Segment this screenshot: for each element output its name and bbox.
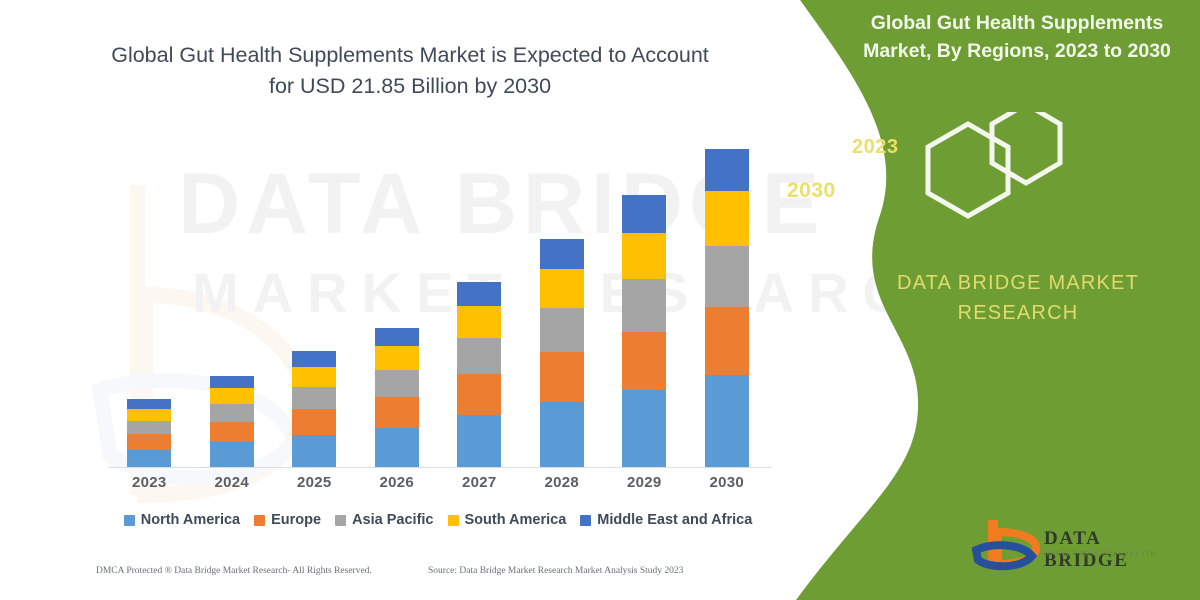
- logo-wordmark: DATA BRIDGE: [1044, 528, 1182, 572]
- bar-segment: [210, 404, 254, 421]
- bar-segment: [457, 374, 501, 415]
- page-title-line2: for USD 21.85 Billion by 2030: [269, 74, 551, 98]
- x-axis-tick-label: 2026: [356, 474, 438, 491]
- legend-item[interactable]: South America: [448, 512, 567, 528]
- bar-segment: [457, 282, 501, 306]
- brand-name-line1: DATA BRIDGE MARKET: [897, 272, 1139, 294]
- hexagon-2030-shape: [928, 124, 1008, 216]
- bar-segment: [210, 442, 254, 467]
- bar-segment: [375, 346, 419, 370]
- hexagon-badges: [880, 112, 1180, 242]
- bar-segment: [210, 376, 254, 388]
- stacked-bar-chart: [108, 140, 768, 467]
- logo-subtitle: MARKET RESEARCH PVT LTD: [1045, 552, 1156, 558]
- bar-segment: [540, 269, 584, 308]
- green-sidebar: Global Gut Health Supplements Market, By…: [730, 0, 1200, 600]
- x-axis-tick-label: 2028: [521, 474, 603, 491]
- stacked-bar: [457, 282, 501, 467]
- legend-swatch-icon: [580, 515, 591, 526]
- x-axis-tick-label: 2024: [191, 474, 273, 491]
- bar-segment: [127, 434, 171, 449]
- bar-segment: [127, 450, 171, 467]
- legend-label: South America: [465, 512, 567, 528]
- sidebar-title: Global Gut Health Supplements Market, By…: [852, 10, 1182, 65]
- bar-segment: [375, 397, 419, 428]
- bar-segment: [540, 352, 584, 401]
- brand-name: DATA BRIDGE MARKET RESEARCH: [858, 268, 1178, 328]
- bar-segment: [457, 415, 501, 467]
- legend-swatch-icon: [254, 515, 265, 526]
- legend-swatch-icon: [448, 515, 459, 526]
- bar-segment: [457, 306, 501, 338]
- x-axis-tick-label: 2025: [273, 474, 355, 491]
- legend-label: Europe: [271, 512, 321, 528]
- bar-segment: [457, 338, 501, 374]
- bar-segment: [292, 435, 336, 467]
- bar-segment: [210, 388, 254, 404]
- bar-segment: [622, 233, 666, 280]
- bar-segment: [292, 351, 336, 367]
- footer: DMCA Protected ® Data Bridge Market Rese…: [0, 566, 790, 588]
- legend-label: Asia Pacific: [352, 512, 433, 528]
- brand-name-line2: RESEARCH: [958, 302, 1079, 324]
- sidebar-title-line2: Market, By Regions, 2023 to 2030: [863, 40, 1171, 62]
- stacked-bar: [292, 351, 336, 467]
- bar-segment: [292, 367, 336, 387]
- footer-copyright: DMCA Protected ® Data Bridge Market Rese…: [96, 566, 372, 576]
- x-axis-tick-label: 2027: [438, 474, 520, 491]
- chart-legend: North AmericaEuropeAsia PacificSouth Ame…: [108, 512, 768, 528]
- bar-segment: [375, 370, 419, 397]
- x-axis-tick-label: 2029: [603, 474, 685, 491]
- chart-panel: Global Gut Health Supplements Market is …: [0, 0, 820, 600]
- bar-segment: [540, 402, 584, 467]
- stacked-bar: [540, 239, 584, 467]
- stacked-bar: [210, 376, 254, 467]
- legend-item[interactable]: Europe: [254, 512, 321, 528]
- stacked-bar: [127, 399, 171, 467]
- bar-segment: [292, 387, 336, 409]
- page-title: Global Gut Health Supplements Market is …: [60, 40, 760, 101]
- legend-item[interactable]: Asia Pacific: [335, 512, 433, 528]
- bar-segment: [540, 308, 584, 352]
- bar-segment: [127, 399, 171, 409]
- bar-segment: [622, 279, 666, 331]
- bar-segment: [540, 239, 584, 270]
- bar-column: [356, 328, 438, 467]
- bar-segment: [375, 328, 419, 346]
- legend-label: North America: [141, 512, 240, 528]
- bar-column: [191, 376, 273, 467]
- bar-segment: [127, 409, 171, 421]
- footer-source: Source: Data Bridge Market Research Mark…: [428, 566, 683, 576]
- stacked-bar: [375, 328, 419, 467]
- bar-column: [521, 239, 603, 467]
- bar-column: [108, 399, 190, 467]
- bar-segment: [127, 421, 171, 434]
- legend-item[interactable]: North America: [124, 512, 240, 528]
- stacked-bar: [622, 195, 666, 467]
- bar-column: [438, 282, 520, 467]
- bar-column: [603, 195, 685, 467]
- bar-segment: [375, 428, 419, 467]
- page-title-line1: Global Gut Health Supplements Market is …: [111, 43, 709, 67]
- x-axis-labels: 20232024202520262027202820292030: [108, 474, 768, 491]
- legend-swatch-icon: [335, 515, 346, 526]
- bar-segment: [292, 409, 336, 435]
- legend-swatch-icon: [124, 515, 135, 526]
- legend-item[interactable]: Middle East and Africa: [580, 512, 752, 528]
- bar-segment: [622, 195, 666, 233]
- x-axis-tick-label: 2023: [108, 474, 190, 491]
- bar-segment: [622, 332, 666, 390]
- sidebar-title-line1: Global Gut Health Supplements: [871, 12, 1164, 34]
- x-axis-line: [108, 467, 772, 468]
- bar-segment: [210, 422, 254, 442]
- bar-segment: [622, 390, 666, 467]
- data-bridge-logo: DATA BRIDGE MARKET RESEARCH PVT LTD: [972, 516, 1182, 580]
- bar-column: [273, 351, 355, 467]
- hexagon-2023-shape: [992, 112, 1060, 183]
- hexagon-2030-label: 2030: [787, 179, 836, 203]
